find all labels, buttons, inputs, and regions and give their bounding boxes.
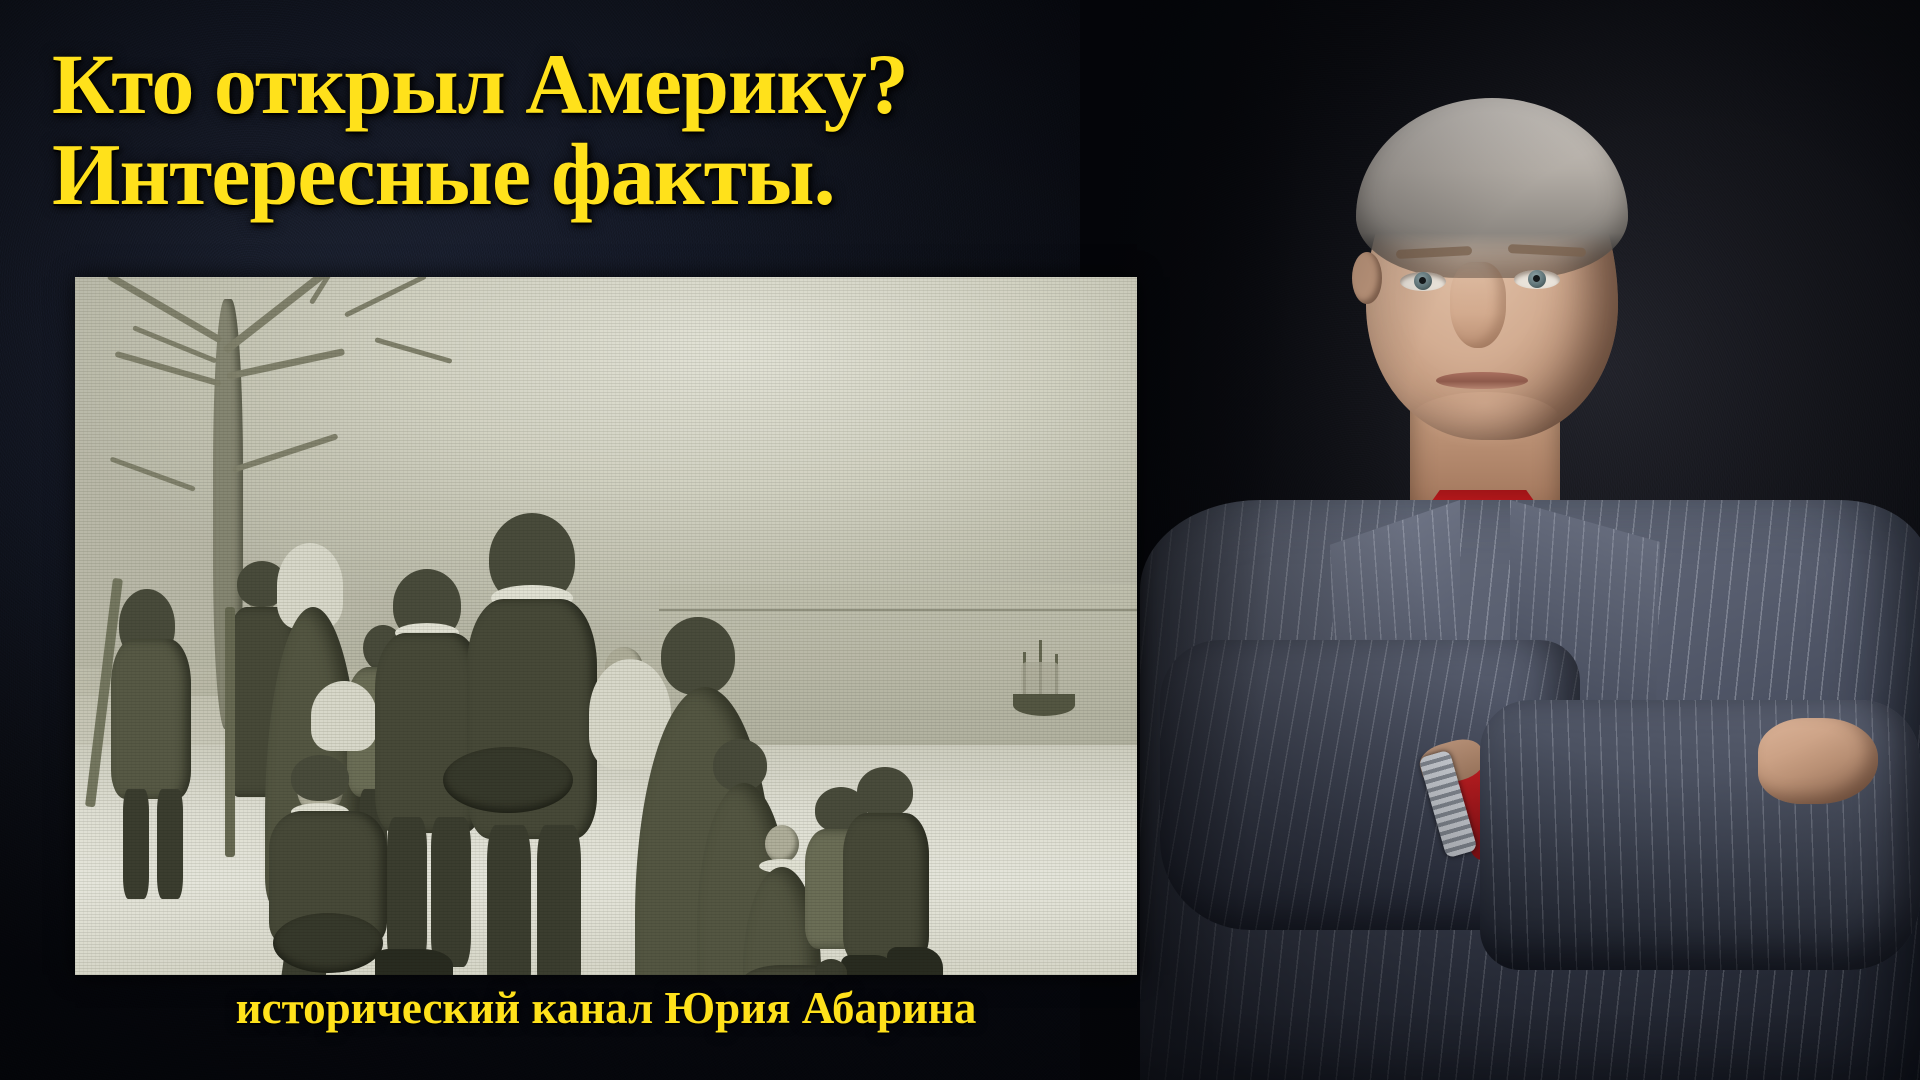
- portrait-nose: [1450, 262, 1506, 348]
- host-portrait: [1080, 0, 1920, 1080]
- title-line-2: Интересные факты.: [52, 130, 908, 222]
- portrait-hand: [1758, 718, 1878, 804]
- title-block: Кто открыл Америку? Интересные факты.: [52, 38, 908, 222]
- engraving-sepia-tone: [75, 277, 1137, 975]
- portrait-pupil-left: [1419, 277, 1426, 284]
- portrait-ear: [1352, 252, 1382, 304]
- title-line-1: Кто открыл Америку?: [52, 38, 908, 130]
- channel-caption: исторический канал Юрия Абарина: [75, 982, 1137, 1034]
- portrait-mouth: [1436, 372, 1528, 389]
- portrait-pupil-right: [1533, 275, 1540, 282]
- thumbnail-canvas: Кто открыл Америку? Интересные факты.: [0, 0, 1920, 1080]
- portrait-chin: [1410, 392, 1560, 448]
- historical-engraving-image: [75, 277, 1137, 975]
